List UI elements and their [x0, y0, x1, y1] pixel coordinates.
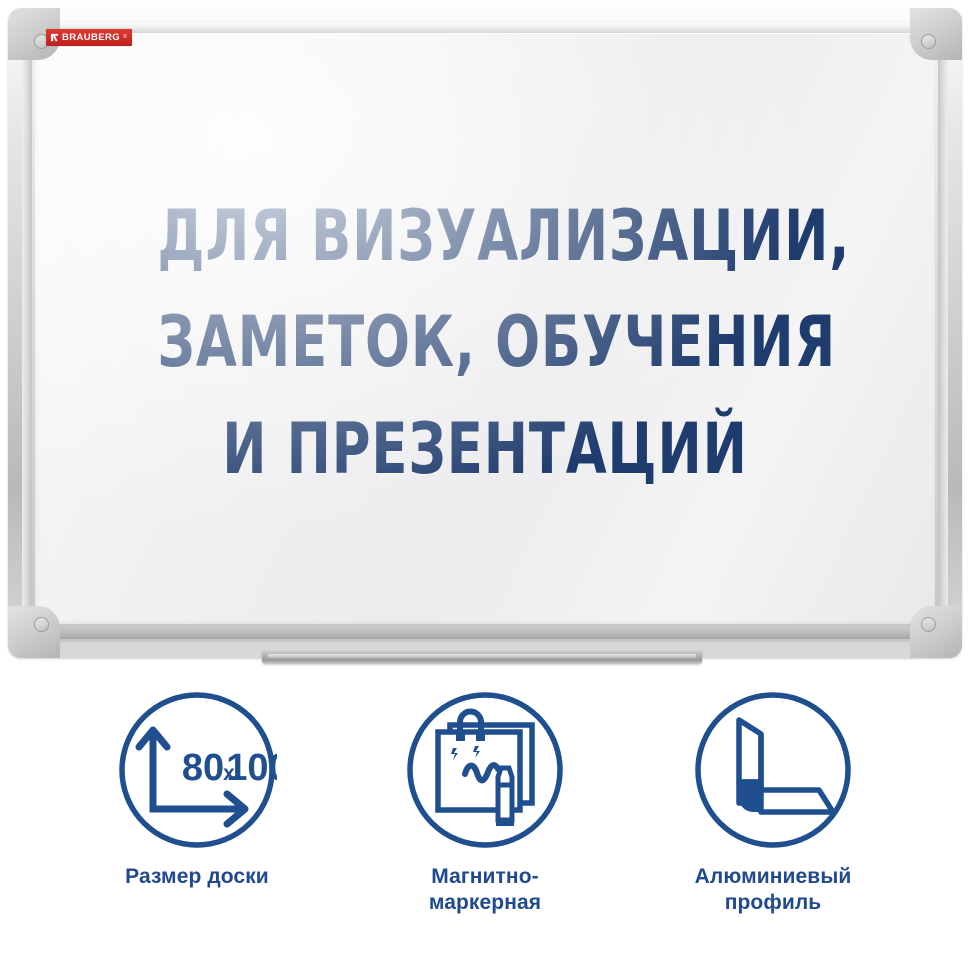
caption-line: маркерная [429, 891, 541, 914]
headline-line-1: ДЛЯ ВИЗУАЛИЗАЦИИ, [157, 183, 812, 289]
board-size-arrows-icon: 80 x 100 [117, 690, 277, 850]
caption-line: профиль [725, 891, 822, 914]
magnetic-marker-board-icon [405, 690, 565, 850]
frame-rail-right [938, 48, 948, 614]
headline-line-2: ЗАМЕТОК, ОБУЧЕНИЯ [157, 289, 812, 395]
screw-icon [921, 34, 936, 49]
corner-cap-bottom-left [8, 606, 60, 658]
caption-line: Магнитно- [431, 865, 538, 888]
board-size-value-left: 80 [182, 747, 224, 789]
frame-rail-left [22, 48, 32, 614]
brauberg-logo-badge: BRAUBERG ® [46, 29, 132, 46]
pen-tray [262, 651, 702, 664]
headline-text: ДЛЯ ВИЗУАЛИЗАЦИИ, ЗАМЕТОК, ОБУЧЕНИЯ И ПР… [157, 183, 812, 502]
frame-rail-bottom [48, 629, 922, 639]
feature-aluminium-profile: Алюминиевый профиль [668, 690, 878, 917]
board-size-value-right: 100 [226, 747, 277, 789]
feature-magnetic-marker: Магнитно- маркерная [380, 690, 590, 917]
caption-line: Алюминиевый [695, 865, 852, 888]
screw-icon [921, 617, 936, 632]
caption-line: Размер доски [125, 865, 269, 888]
brauberg-mark-icon [50, 33, 59, 42]
feature-list: 80 x 100 Размер доски [0, 690, 970, 917]
feature-board-size: 80 x 100 Размер доски [92, 690, 302, 890]
corner-cap-top-right [910, 8, 962, 60]
product-card: ДЛЯ ВИЗУАЛИЗАЦИИ, ЗАМЕТОК, ОБУЧЕНИЯ И ПР… [0, 0, 970, 970]
trademark-symbol: ® [123, 35, 127, 40]
marker-pen-icon [496, 768, 514, 826]
aluminium-profile-corner-icon [693, 690, 853, 850]
screw-icon [34, 617, 49, 632]
feature-caption-board-size: Размер доски [125, 864, 269, 890]
feature-caption-magnetic-marker: Магнитно- маркерная [429, 864, 541, 917]
corner-cap-bottom-right [910, 606, 962, 658]
feature-caption-aluminium-profile: Алюминиевый профиль [695, 864, 852, 917]
board-writing-surface: ДЛЯ ВИЗУАЛИЗАЦИИ, ЗАМЕТОК, ОБУЧЕНИЯ И ПР… [35, 33, 935, 624]
headline-line-3: И ПРЕЗЕНТАЦИЙ [157, 396, 812, 502]
whiteboard: ДЛЯ ВИЗУАЛИЗАЦИИ, ЗАМЕТОК, ОБУЧЕНИЯ И ПР… [8, 8, 962, 658]
brauberg-wordmark: BRAUBERG [62, 33, 120, 43]
frame-rail-top [48, 22, 922, 33]
